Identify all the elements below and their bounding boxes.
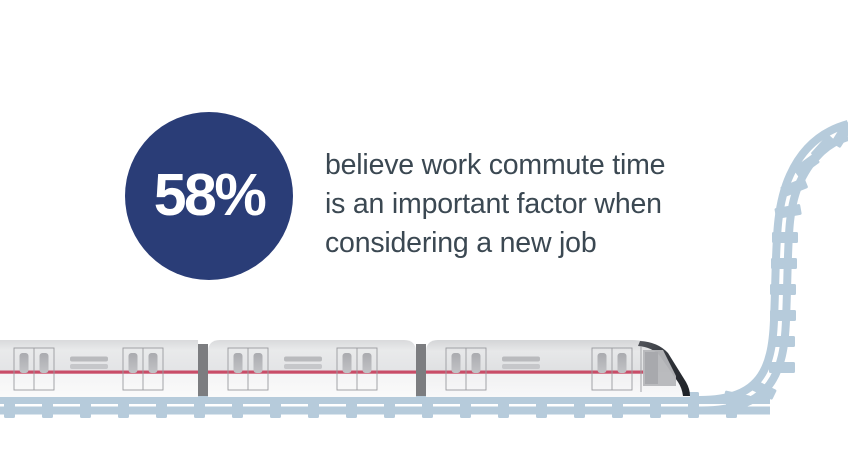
statement-line-1: believe work commute time bbox=[325, 146, 745, 185]
infographic-canvas: 58% believe work commute time is an impo… bbox=[0, 0, 848, 467]
stat-circle: 58% bbox=[125, 112, 293, 280]
train-car-2 bbox=[208, 340, 416, 397]
train-car-3-head bbox=[426, 340, 690, 397]
statement-text: believe work commute time is an importan… bbox=[325, 146, 745, 263]
stat-percentage-value: 58% bbox=[154, 166, 265, 225]
statement-line-3: considering a new job bbox=[325, 224, 745, 263]
train-car-1 bbox=[0, 340, 198, 397]
statement-line-2: is an important factor when bbox=[325, 185, 745, 224]
